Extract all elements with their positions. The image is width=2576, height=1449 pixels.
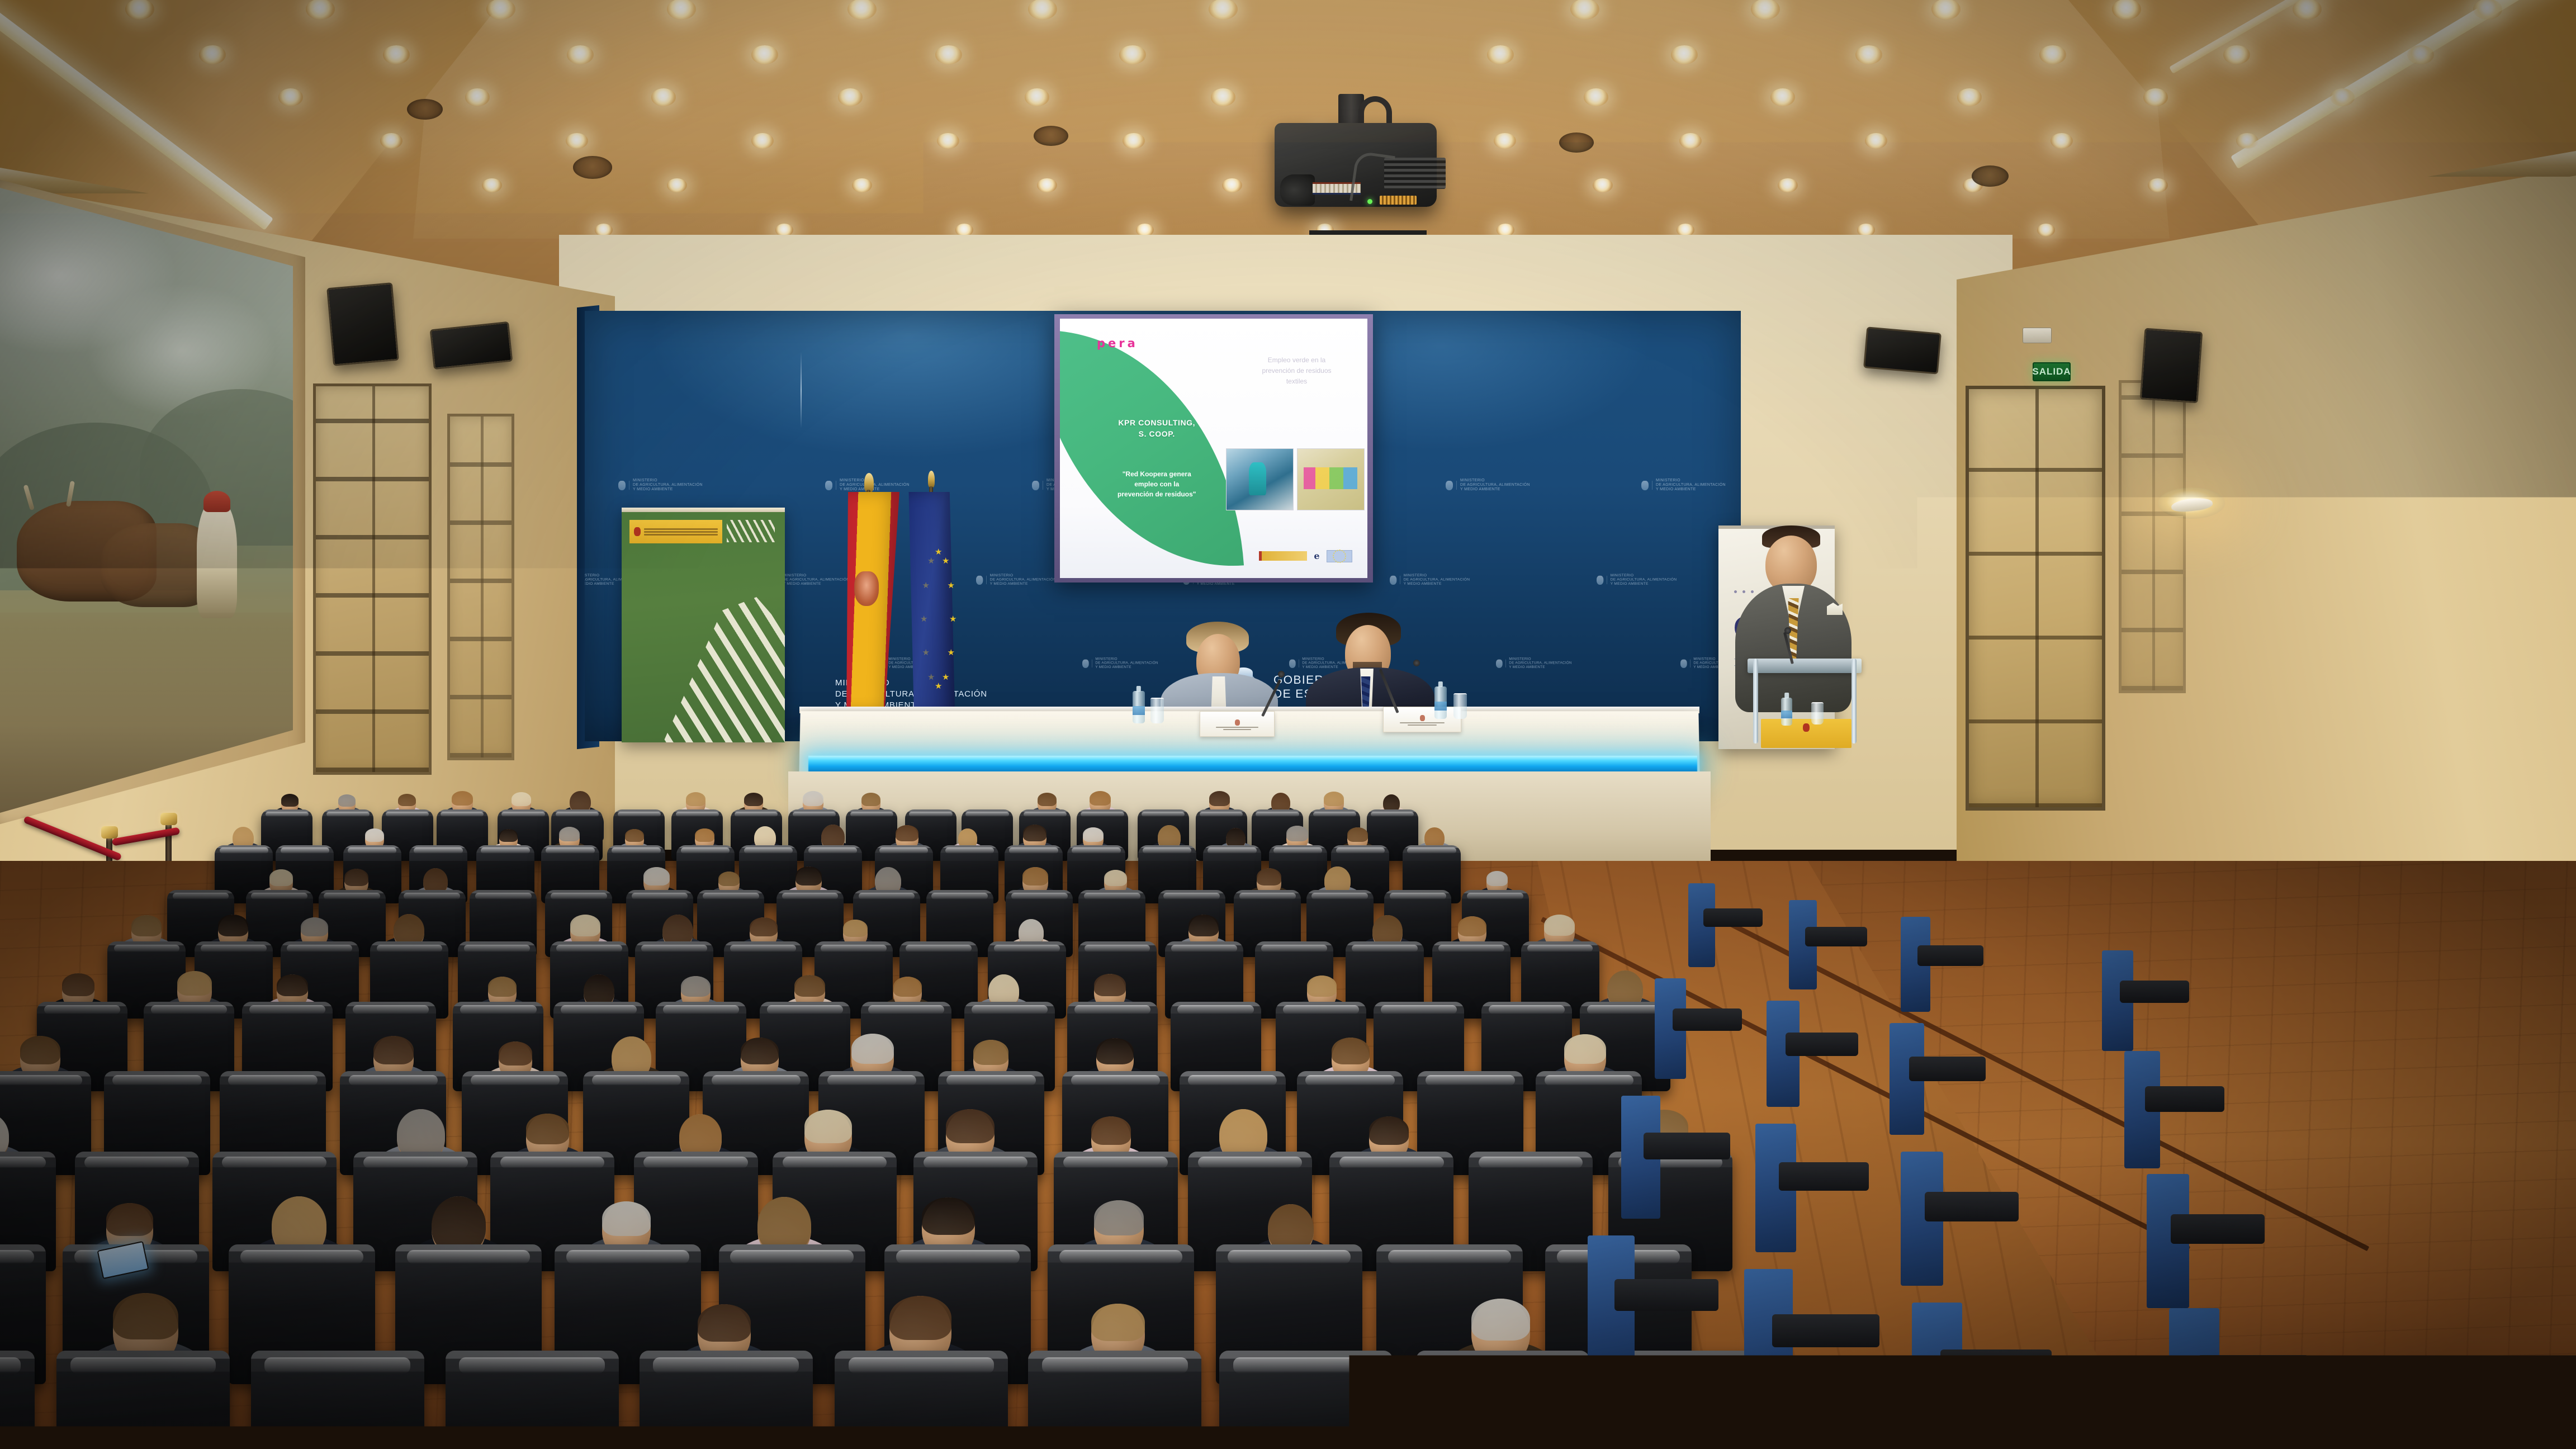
seat-gloss-highlight — [1084, 893, 1140, 899]
seat-gloss-highlight — [228, 1075, 318, 1086]
ceiling-downlight — [567, 45, 594, 64]
seat-back — [1028, 1351, 1201, 1449]
audience-member-hair — [338, 794, 356, 807]
ceiling-downlight — [482, 178, 502, 193]
seat-gloss-highlight — [70, 1357, 216, 1374]
ceiling-downlight — [1222, 178, 1242, 193]
backdrop-ministry-mark: MINISTERIODE AGRICULTURA, ALIMENTACIÓNY … — [1641, 479, 1726, 492]
ceiling-downlight — [2473, 0, 2502, 20]
seat-gloss-highlight — [1143, 847, 1191, 853]
audience-member-hair — [973, 1040, 1008, 1065]
ceiling-vent — [1559, 132, 1594, 153]
slide-brand-logo: pera — [1097, 337, 1138, 350]
seat-gloss-highlight — [240, 1250, 363, 1264]
backdrop-mark-text: MINISTERIODE AGRICULTURA, ALIMENTACIÓNY … — [1656, 479, 1726, 492]
seat-gloss-highlight — [1024, 812, 1067, 817]
audience-member-hair — [893, 977, 922, 997]
seat-gloss-highlight — [1163, 893, 1220, 899]
seat-armrest — [1614, 1279, 1718, 1311]
eu-flag-star: ★ — [927, 673, 935, 681]
backdrop-ministry-mark: MINISTERIODE AGRICULTURA, ALIMENTACIÓNY … — [618, 479, 703, 492]
seat-gloss-highlight — [730, 1250, 853, 1264]
seat-gloss-highlight — [946, 1075, 1036, 1086]
seat-gloss-highlight — [251, 893, 307, 899]
audience-member-hair — [718, 872, 740, 887]
seat-gloss-highlight — [1430, 1357, 1575, 1374]
ceiling-downlight — [306, 0, 335, 20]
seat-gloss-highlight — [459, 1357, 604, 1374]
lectern-microphone-head — [1784, 627, 1791, 634]
slide-title-line1: KPR CONSULTING, — [1082, 417, 1233, 428]
seat-back — [251, 1351, 424, 1449]
audience-member-hair — [106, 1203, 153, 1236]
seat-gloss-highlight — [1467, 893, 1523, 899]
rollup-crest-icon — [634, 527, 641, 536]
audience-member-hair — [218, 915, 248, 936]
audience-member-hair — [602, 1201, 651, 1235]
seat-gloss-highlight — [906, 945, 972, 953]
seat-armrest — [2145, 1086, 2225, 1112]
audience-member-hair — [281, 794, 299, 806]
audience-member-hair — [570, 915, 600, 936]
audience-member-hair — [922, 1197, 975, 1235]
ceiling-downlight — [667, 178, 687, 193]
rollup-green-ministry-badge — [629, 520, 722, 543]
seat-gloss-highlight — [353, 1005, 429, 1014]
backdrop-mark-crest-icon — [1289, 659, 1296, 667]
rollup-banner-green — [622, 508, 785, 742]
seat-gloss-highlight — [1009, 847, 1058, 853]
seat-gloss-highlight — [481, 847, 529, 853]
seat-gloss-highlight — [1388, 1250, 1511, 1264]
ceiling-downlight — [380, 133, 402, 149]
slide-header-line2: prevención de residuos — [1232, 366, 1361, 376]
ceiling-downlight — [651, 88, 676, 106]
seat-gloss-highlight — [1239, 893, 1296, 899]
audience-member-hair — [269, 869, 293, 886]
seat-gloss-highlight — [1527, 945, 1593, 953]
backdrop-mark-text: MINISTERIODE AGRICULTURA, ALIMENTACIÓNY … — [633, 479, 703, 492]
audience-member-hair — [804, 1110, 853, 1144]
backdrop-ministry-mark: MINISTERIODE AGRICULTURA, ALIMENTACIÓNY … — [1390, 574, 1470, 586]
exit-sign: SALIDA — [2033, 362, 2071, 381]
seat-gloss-highlight — [703, 893, 759, 899]
seat-gloss-highlight — [592, 1075, 681, 1086]
seat-gloss-highlight — [1200, 812, 1243, 817]
seat-gloss-highlight — [1261, 945, 1327, 953]
seat-gloss-highlight — [931, 893, 988, 899]
backdrop-mark-divider — [1652, 481, 1652, 490]
audience-member-hair — [803, 791, 823, 806]
audience-member-hair — [643, 867, 670, 885]
seat-gloss-highlight — [1059, 1250, 1182, 1264]
ceiling-downlight — [1209, 0, 1238, 20]
audience-member-hair — [1286, 826, 1308, 841]
seat-gloss-highlight — [1587, 1005, 1663, 1014]
audience-member-hair — [488, 977, 517, 997]
audience-member-hair — [698, 1304, 750, 1342]
ceiling-downlight — [1487, 45, 1514, 64]
ceiling-downlight — [838, 88, 863, 106]
seat-gloss-highlight — [561, 1005, 637, 1014]
seat-armrest — [1805, 927, 1868, 946]
audience-member-hair — [512, 792, 531, 806]
seat-gloss-highlight — [827, 1075, 917, 1086]
seat-armrest — [1925, 1192, 2018, 1221]
seat-gloss-highlight — [945, 847, 994, 853]
audience-member-hair — [177, 971, 212, 996]
slide-footer-logos: e — [1060, 542, 1367, 570]
seat-gloss-highlight — [1142, 812, 1185, 817]
slide-photo-workshop — [1226, 448, 1294, 510]
ceiling-vent — [1034, 126, 1068, 146]
seat-back — [56, 1351, 230, 1449]
seat-gloss-highlight — [1011, 893, 1068, 899]
wall-slat-panel-right — [2119, 380, 2186, 693]
audience-member-hair — [1332, 1038, 1370, 1064]
seat-armrest — [2120, 981, 2189, 1003]
seat-gloss-highlight — [1063, 1157, 1167, 1168]
seat-gloss-highlight — [264, 1357, 410, 1374]
seat-back — [446, 1351, 619, 1449]
slide-header-line1: Empleo verde en la — [1232, 355, 1361, 366]
seat-back — [0, 1351, 35, 1449]
seat-gloss-highlight — [363, 1157, 467, 1168]
seat-gloss-highlight — [808, 847, 857, 853]
seat-gloss-highlight — [556, 945, 622, 953]
seat-gloss-highlight — [1479, 1157, 1583, 1168]
audience-member-hair — [1091, 1116, 1131, 1144]
backdrop-ministry-mark: MINISTERIODE AGRICULTURA, ALIMENTACIÓNY … — [1446, 479, 1530, 492]
table-bottle-right — [1434, 686, 1447, 719]
audience-member-hair — [741, 1038, 779, 1064]
seat-gloss-highlight — [641, 945, 707, 953]
seat-gloss-highlight — [0, 1157, 46, 1168]
flag-eu-stars: ★★★★★★★★★★★★ — [910, 492, 960, 727]
ceiling-downlight — [847, 0, 877, 20]
ceiling-downlight — [1211, 88, 1235, 106]
backdrop-mark-crest-icon — [1390, 575, 1396, 584]
seat-gloss-highlight — [546, 847, 594, 853]
seat-armrest — [1703, 908, 1762, 927]
seat-armrest — [1772, 1314, 1879, 1347]
seat-gloss-highlight — [879, 847, 928, 853]
backdrop-mark-crest-icon — [1496, 659, 1503, 667]
eu-flag-star: ★ — [920, 615, 927, 623]
seat-gloss-highlight — [1407, 847, 1456, 853]
wall-speaker-right-2 — [2140, 328, 2203, 404]
seat-gloss-highlight — [1352, 945, 1418, 953]
seat-gloss-highlight — [1381, 1005, 1457, 1014]
seat-gloss-highlight — [744, 847, 793, 853]
seat-armrest — [2198, 1355, 2308, 1390]
seat-gloss-highlight — [1273, 847, 1322, 853]
audience-member-hair — [1091, 1304, 1145, 1342]
audience-member-hair — [398, 794, 416, 806]
ceiling-downlight — [937, 133, 959, 149]
ceiling-projector — [1254, 94, 1456, 239]
seat-gloss-highlight — [475, 893, 532, 899]
slide-leaf-shape — [1060, 319, 1244, 578]
slide-quote-line2: empleo con la — [1072, 479, 1242, 489]
seat-gloss-highlight — [821, 945, 887, 953]
ceiling-downlight — [2407, 45, 2434, 64]
audience-member-hair — [131, 915, 162, 936]
eu-flag-star: ★ — [942, 673, 949, 681]
ceiling-downlight — [1593, 178, 1613, 193]
seat-armrest — [1909, 1057, 1985, 1081]
seat-gloss-highlight — [965, 812, 1008, 817]
backdrop-mark-crest-icon — [1032, 481, 1039, 490]
backdrop-mark-crest-icon — [618, 481, 626, 490]
backdrop-mark-divider — [1299, 660, 1299, 667]
table-microphone-head-left — [1278, 671, 1285, 678]
seat-gloss-highlight — [735, 812, 778, 817]
seat-gloss-highlight — [404, 893, 460, 899]
audience-member-hair — [301, 917, 328, 937]
seat-back — [1219, 1351, 1393, 1449]
seat-gloss-highlight — [1042, 1357, 1187, 1374]
backdrop-mark-text: MINISTERIODE AGRICULTURA, ALIMENTACIÓNY … — [1611, 574, 1677, 586]
ceiling-downlight — [667, 0, 696, 20]
ceiling-downlight — [2223, 45, 2250, 64]
ceiling-vent — [407, 99, 443, 120]
ceiling-vent — [573, 156, 612, 179]
seat-gloss-highlight — [783, 1157, 887, 1168]
seat-gloss-highlight — [1305, 1075, 1395, 1086]
wall-speaker-left-2 — [430, 321, 513, 370]
audience-member-hair — [1564, 1034, 1606, 1064]
ceiling-downlight — [1028, 0, 1057, 20]
seat-gloss-highlight — [1207, 847, 1256, 853]
eu-flag-star: ★ — [927, 557, 935, 565]
ceiling-downlight — [852, 178, 872, 193]
ceiling-downlight — [1494, 133, 1516, 149]
eu-flag-star: ★ — [935, 682, 942, 690]
ceiling-downlight — [751, 133, 774, 149]
seat-armrest — [2171, 1214, 2264, 1244]
seat-gloss-highlight — [653, 1357, 798, 1374]
ceiling-downlight — [1679, 133, 1702, 149]
audience-member-hair — [1471, 1299, 1530, 1340]
seat-gloss-highlight — [849, 1357, 994, 1374]
seat-gloss-highlight — [1188, 1075, 1277, 1086]
seat-back — [835, 1351, 1008, 1449]
seat-gloss-highlight — [201, 945, 267, 953]
wall-slat-panel-left-2 — [447, 414, 514, 760]
seat-gloss-highlight — [0, 1075, 82, 1086]
ceiling-downlight — [1584, 88, 1608, 106]
audience-member-hair — [1458, 916, 1486, 936]
audience-member-hair — [1094, 974, 1126, 996]
seat-back — [640, 1351, 813, 1449]
ceiling-downlight — [1770, 88, 1795, 106]
seat-back — [1416, 1351, 1589, 1449]
seat-gloss-highlight — [676, 812, 719, 817]
ceiling-downlight — [2148, 178, 2168, 193]
audience-member-hair — [365, 828, 384, 842]
seat-gloss-highlight — [1283, 1005, 1359, 1014]
seat-gloss-highlight — [441, 812, 484, 817]
backdrop-mark-crest-icon — [1082, 659, 1089, 667]
backdrop-ministry-mark: MINISTERIODE AGRICULTURA, ALIMENTACIÓNY … — [1597, 574, 1677, 586]
seat-gloss-highlight — [767, 1005, 843, 1014]
seat-gloss-highlight — [0, 1250, 34, 1264]
seat-gloss-highlight — [1171, 945, 1237, 953]
eu-flag-star: ★ — [922, 581, 929, 590]
backdrop-mark-divider — [1043, 481, 1043, 490]
ceiling-downlight — [566, 133, 588, 149]
backdrop-mark-text: MINISTERIODE AGRICULTURA, ALIMENTACIÓNY … — [840, 479, 910, 492]
seat-gloss-highlight — [1198, 1157, 1302, 1168]
seat-gloss-highlight — [1336, 847, 1385, 853]
seat-gloss-highlight — [1438, 945, 1504, 953]
seat-gloss-highlight — [0, 1357, 21, 1374]
seat-gloss-highlight — [460, 1005, 536, 1014]
slide-title: KPR CONSULTING, S. COOP. — [1082, 417, 1233, 439]
seat-gloss-highlight — [249, 1005, 325, 1014]
slide-title-line2: S. COOP. — [1082, 428, 1233, 439]
seat-gloss-highlight — [112, 1075, 202, 1086]
seat-gloss-highlight — [266, 812, 309, 817]
seat-gloss-highlight — [972, 1005, 1048, 1014]
audience-member-hair — [113, 1293, 178, 1339]
seat-gloss-highlight — [730, 945, 796, 953]
seat-gloss-highlight — [1071, 1075, 1161, 1086]
ceiling-downlight — [486, 0, 515, 20]
rollup-green-top-bar — [622, 508, 785, 512]
backdrop-mark-divider — [1505, 660, 1506, 667]
ceiling-downlight — [1037, 178, 1057, 193]
audience-member-hair — [851, 1034, 894, 1064]
ceiling-downlight — [2039, 45, 2066, 64]
audience-seat — [1416, 1351, 1589, 1449]
slide-header-text: Empleo verde en la prevención de residuo… — [1232, 355, 1361, 387]
seat-gloss-highlight — [1339, 1157, 1443, 1168]
lectern-top — [1748, 659, 1862, 673]
wall-speaker-left-1 — [326, 282, 399, 366]
audience-member-hair — [1094, 1200, 1144, 1235]
seat-armrest — [1917, 945, 1983, 966]
seat-gloss-highlight — [556, 812, 599, 817]
seat-gloss-highlight — [324, 893, 380, 899]
backdrop-mark-divider — [1456, 481, 1457, 490]
seat-gloss-highlight — [618, 812, 661, 817]
seat-gloss-highlight — [1085, 945, 1150, 953]
rollup-wheat-icon-small — [727, 520, 775, 542]
slide-ministry-logo-icon — [1259, 551, 1307, 561]
seat-gloss-highlight — [326, 812, 370, 817]
ceiling-vent — [1972, 165, 2009, 187]
ceiling-downlight — [383, 45, 410, 64]
audience-member-hair — [1257, 868, 1281, 885]
seat-gloss-highlight — [782, 893, 839, 899]
audience-member-hair — [1369, 1116, 1409, 1144]
ceiling-downlight — [1025, 88, 1049, 106]
audience-member-hair — [344, 869, 368, 885]
audience-member-hair — [1023, 825, 1046, 841]
backdrop-mark-text: MINISTERIODE AGRICULTURA, ALIMENTACIÓNY … — [990, 574, 1057, 586]
seat-gloss-highlight — [1489, 1005, 1565, 1014]
audience-member-hair — [20, 1036, 60, 1064]
ceiling-downlight — [1671, 45, 1698, 64]
ceiling-downlight — [1119, 45, 1146, 64]
backdrop-mark-crest-icon — [1597, 575, 1603, 584]
audience-seat — [56, 1351, 230, 1449]
ceiling-downlight — [278, 88, 303, 106]
ceiling-downlight — [1865, 133, 1887, 149]
seat-gloss-highlight — [793, 812, 836, 817]
audience-area — [0, 716, 2576, 1449]
seat-gloss-highlight — [281, 847, 329, 853]
audience-member-hair — [499, 829, 518, 842]
seat-gloss-highlight — [566, 1250, 689, 1264]
backdrop-ministry-mark: MINISTERIODE AGRICULTURA, ALIMENTACIÓNY … — [976, 574, 1056, 586]
slide-e-logo-icon: e — [1314, 551, 1319, 561]
seat-gloss-highlight — [859, 893, 915, 899]
audience-member-hair — [62, 973, 94, 996]
ceiling-downlight — [2293, 0, 2322, 20]
seat-gloss-highlight — [464, 945, 530, 953]
seat-gloss-highlight — [151, 1005, 227, 1014]
seat-gloss-highlight — [220, 847, 268, 853]
backdrop-mark-crest-icon — [1446, 481, 1453, 490]
seat-gloss-highlight — [1311, 893, 1368, 899]
seat-gloss-highlight — [1426, 1075, 1515, 1086]
audience-member-hair — [695, 828, 714, 842]
ceiling-downlight — [1123, 133, 1145, 149]
backdrop-mark-crest-icon — [825, 481, 832, 490]
audience-member-hair — [1090, 791, 1111, 806]
projector-cable — [1349, 151, 1395, 206]
audience-member-hair — [750, 917, 777, 937]
audience-seat — [0, 1351, 35, 1449]
backdrop-mark-crest-icon — [1641, 481, 1649, 490]
audience-member-hair — [277, 974, 308, 996]
rollup-white-dots — [1734, 590, 1754, 593]
seat-armrest — [1644, 1133, 1730, 1159]
ceiling-downlight — [1855, 45, 1882, 64]
ceiling-downlight — [1957, 88, 1982, 106]
seat-gloss-highlight — [643, 1157, 747, 1168]
eu-flag-star: ★ — [922, 648, 929, 657]
seat-gloss-highlight — [632, 893, 688, 899]
seat-gloss-highlight — [1233, 1357, 1379, 1374]
audience-member-hair — [1209, 791, 1230, 806]
audience-member-hair — [1096, 1038, 1134, 1064]
seat-gloss-highlight — [414, 847, 462, 853]
audience-member-hair — [452, 791, 473, 806]
audience-member-hair — [843, 920, 868, 937]
audience-member-hair — [1307, 976, 1337, 996]
projection-screen: pera Empleo verde en la prevención de re… — [1060, 319, 1367, 578]
eu-flag-star: ★ — [949, 615, 956, 623]
seat-gloss-highlight — [471, 1075, 560, 1086]
seat-gloss-highlight — [44, 1005, 120, 1014]
projector-body — [1275, 123, 1437, 207]
slide-header-line3: textiles — [1232, 376, 1361, 387]
ceiling-downlight — [1778, 178, 1798, 193]
ceiling-downlight — [125, 0, 154, 20]
seat-gloss-highlight — [994, 945, 1060, 953]
table-microphone-head-right — [1413, 660, 1420, 666]
seat-armrest — [1940, 1349, 2051, 1384]
backdrop-mark-divider — [1400, 576, 1400, 584]
audience-seat — [835, 1351, 1008, 1449]
backdrop-mark-divider — [986, 576, 987, 584]
seat-gloss-highlight — [173, 893, 229, 899]
eu-flag-star: ★ — [935, 548, 942, 556]
